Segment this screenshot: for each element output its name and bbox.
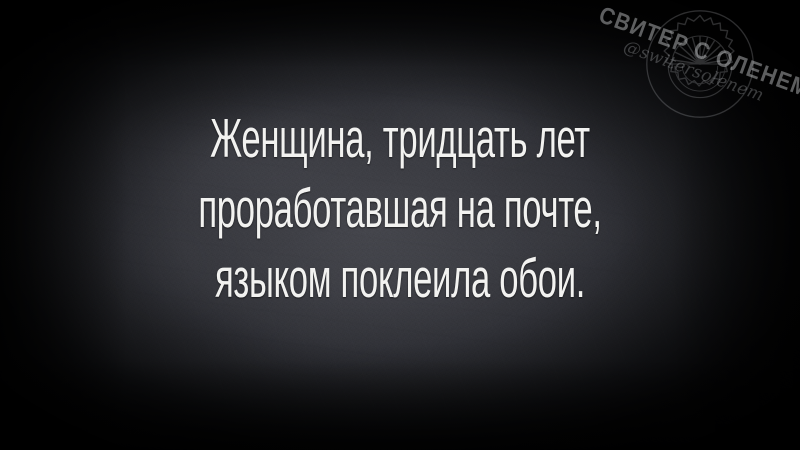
background-vignette [0,0,800,450]
meme-image: СВИТЕР С ОЛЕНЕМ @switersolenem Женщина, … [0,0,800,450]
